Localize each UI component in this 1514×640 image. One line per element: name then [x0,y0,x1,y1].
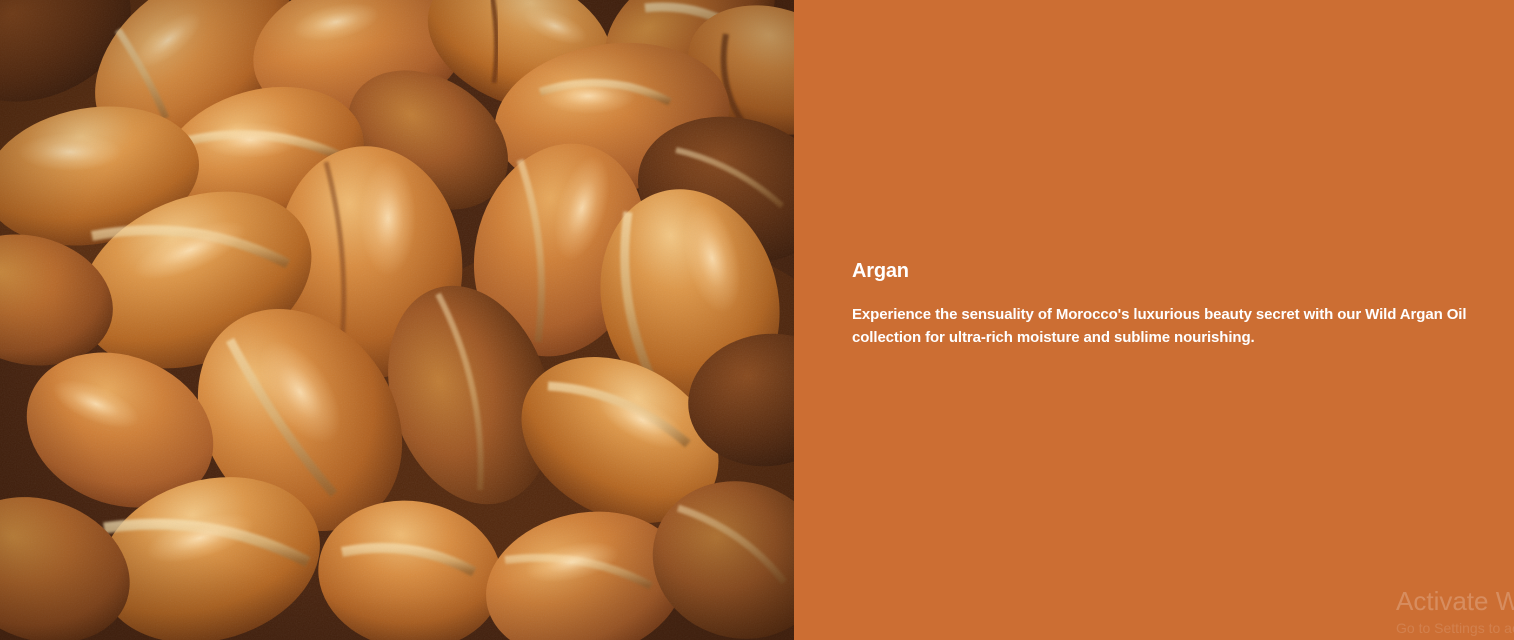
activation-subtitle: Go to Settings to activate Windows. [1396,618,1514,638]
argan-nut-photo-icon [0,0,794,640]
activation-title: Activate Windows [1396,585,1514,617]
argan-promo-banner: Argan Experience the sensuality of Moroc… [0,0,1514,640]
copy-block: Argan Experience the sensuality of Moroc… [852,258,1504,349]
windows-activation-watermark: Activate Windows Go to Settings to activ… [1396,585,1514,638]
page-title: Argan [852,258,1504,284]
argan-nut-image [0,0,794,640]
argan-content-panel: Argan Experience the sensuality of Moroc… [794,0,1514,640]
description-text: Experience the sensuality of Morocco's l… [852,303,1504,349]
